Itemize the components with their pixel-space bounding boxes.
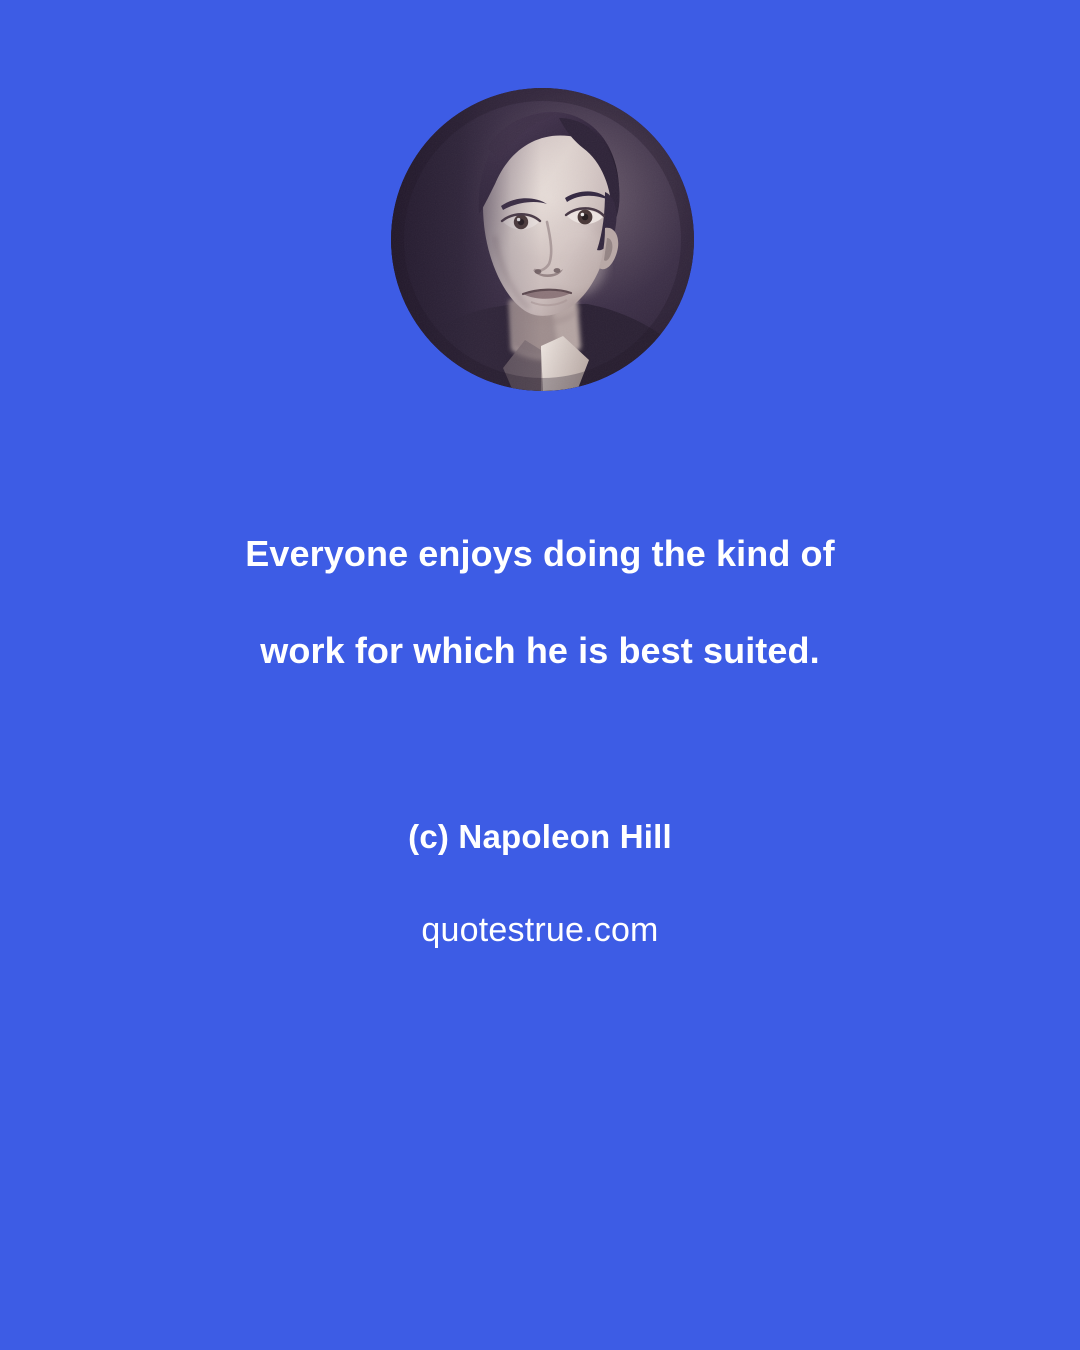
quote-text: Everyone enjoys doing the kind of work f… <box>90 505 990 699</box>
portrait-photo-icon <box>391 88 694 391</box>
source-website: quotestrue.com <box>90 906 990 954</box>
portrait-circle-mask <box>391 88 694 391</box>
quote-line-1: Everyone enjoys doing the kind of <box>90 505 990 602</box>
quote-card: Everyone enjoys doing the kind of work f… <box>0 0 1080 1350</box>
author-attribution: (c) Napoleon Hill <box>90 813 990 861</box>
quote-line-2: work for which he is best suited. <box>90 602 990 699</box>
author-portrait <box>391 88 694 391</box>
